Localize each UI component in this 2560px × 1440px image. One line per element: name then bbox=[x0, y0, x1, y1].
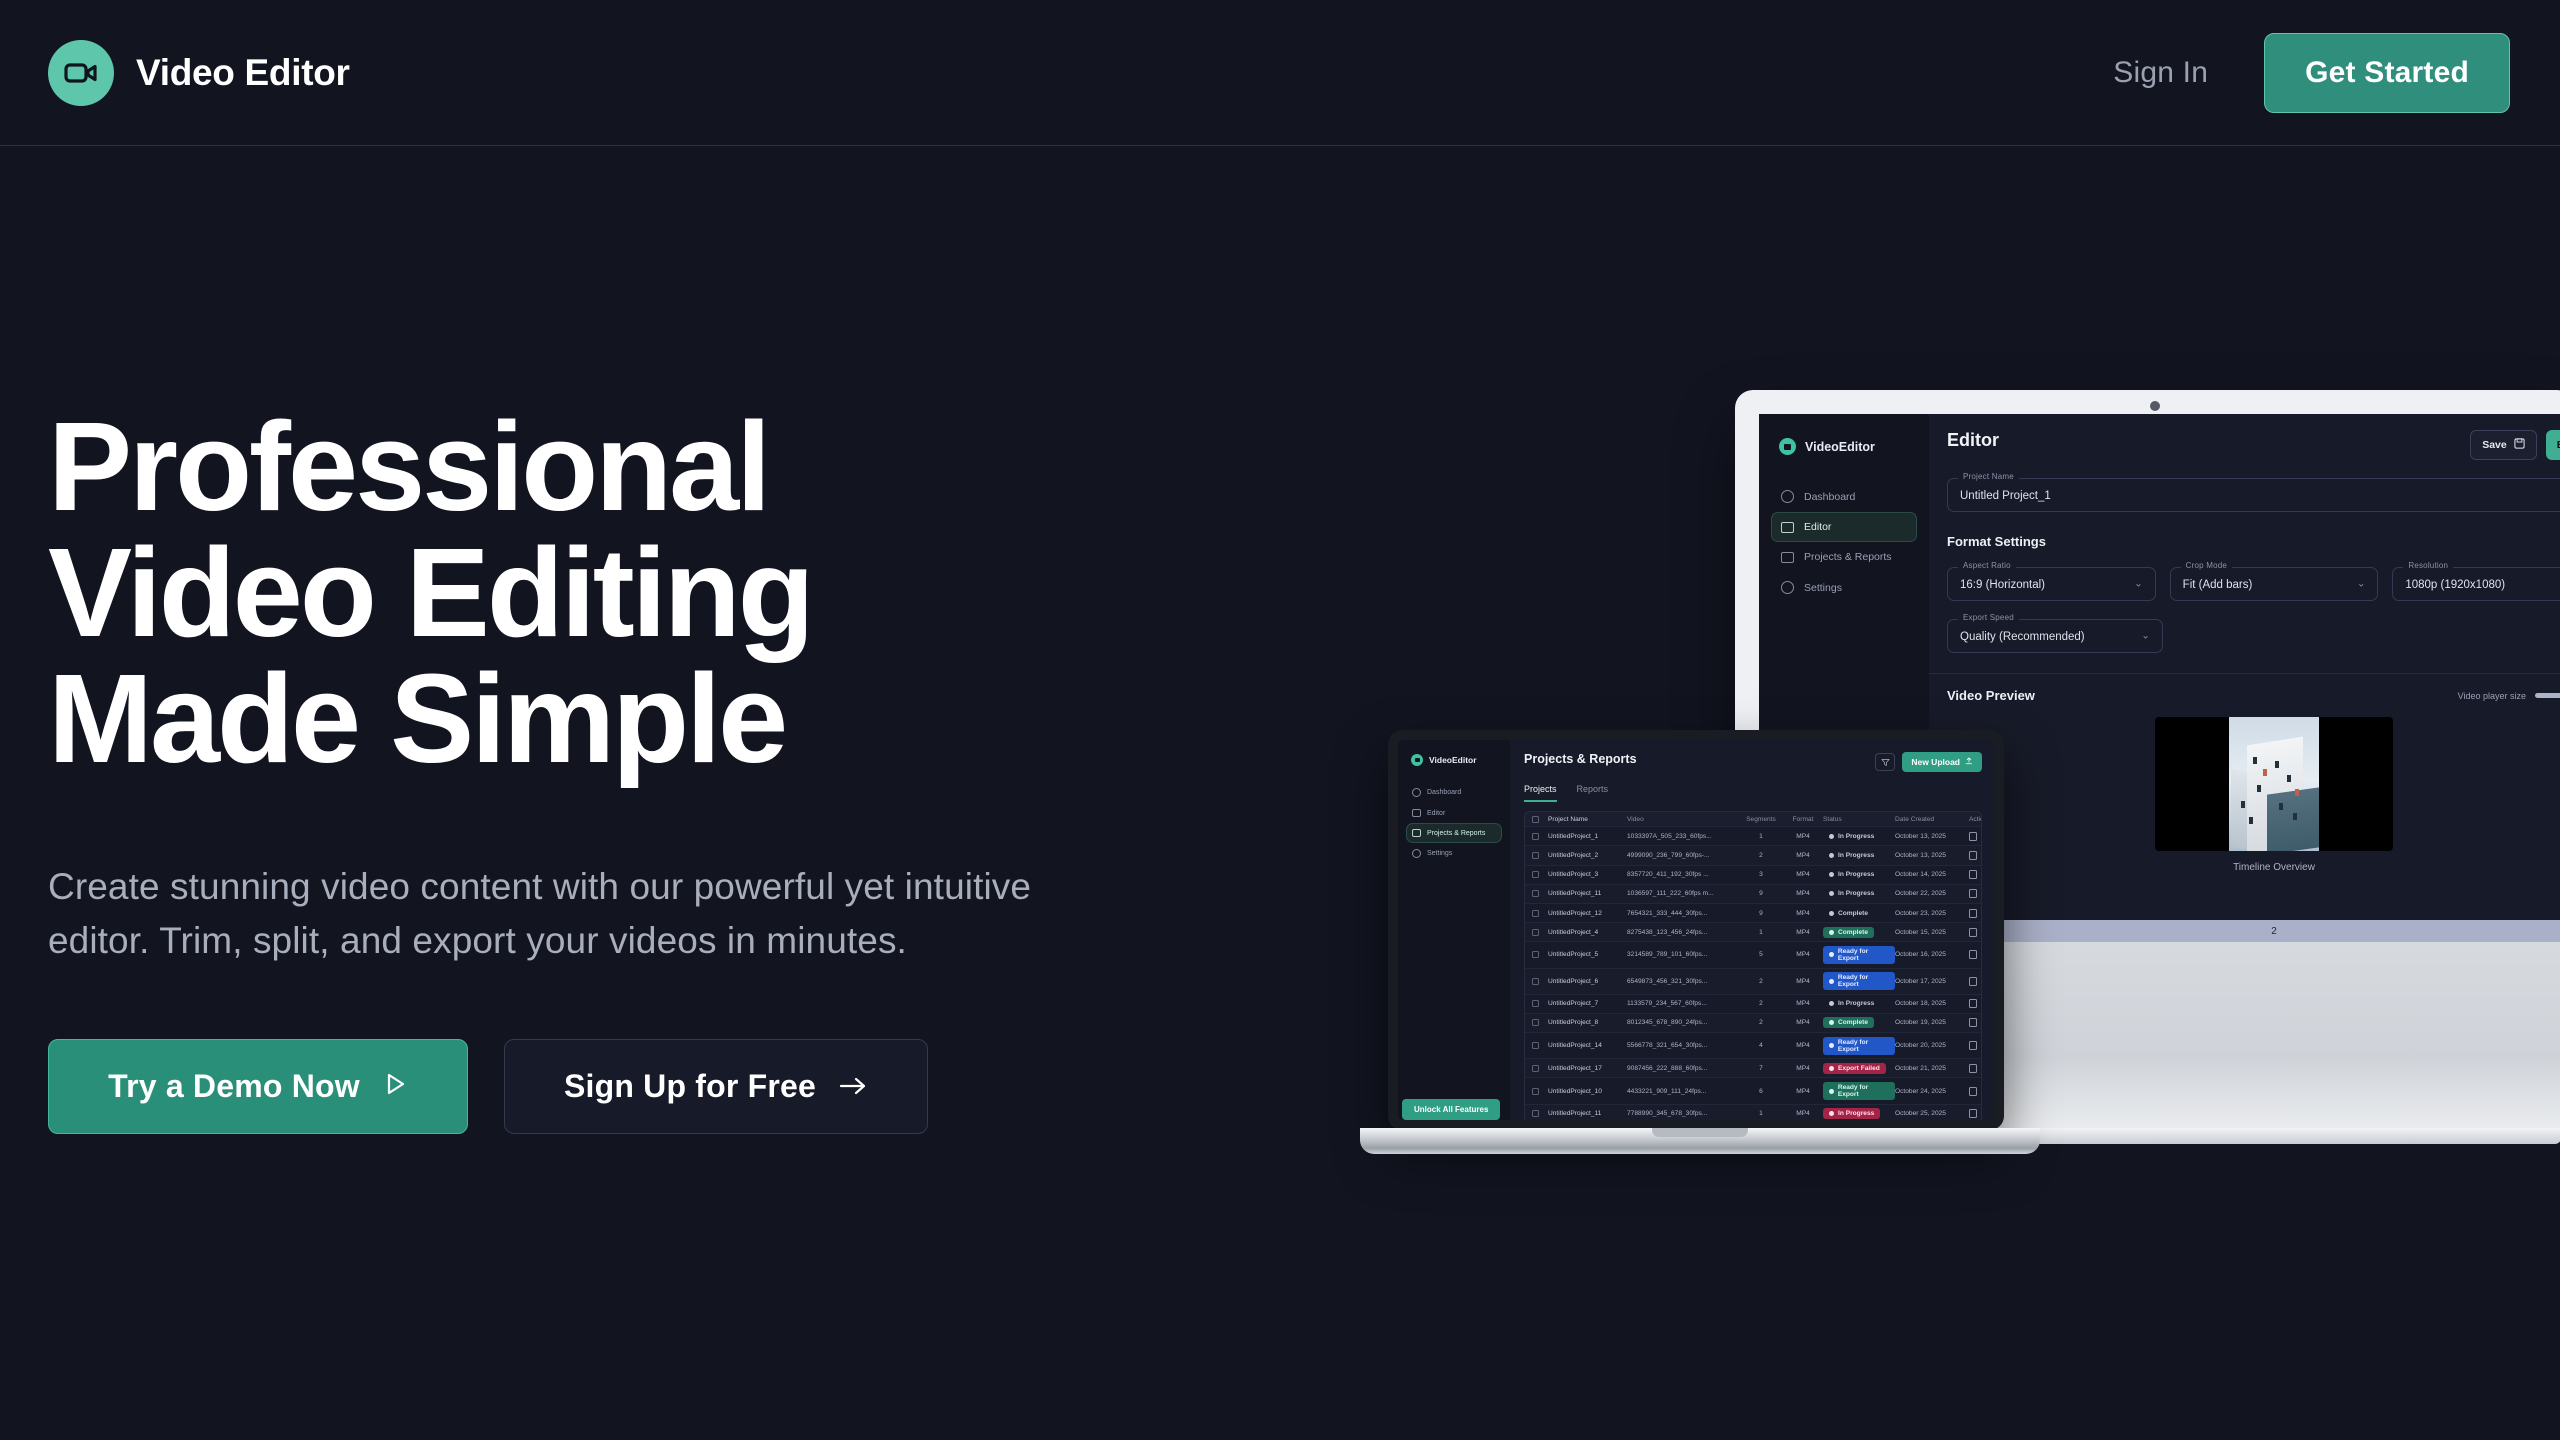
player-size-control[interactable]: Video player size bbox=[2458, 691, 2560, 701]
edit-icon[interactable] bbox=[1969, 1109, 1977, 1118]
crop-mode-value: Fit (Add bars) bbox=[2183, 579, 2253, 591]
sidebar-item-label: Projects & Reports bbox=[1427, 830, 1485, 837]
edit-icon[interactable] bbox=[1969, 950, 1977, 959]
editor-page-title: Editor bbox=[1947, 430, 1999, 451]
cell-status: In Progress bbox=[1823, 1108, 1895, 1119]
cell-project-name: UntitledProject_8 bbox=[1539, 1019, 1627, 1026]
cell-date-created: October 18, 2025 bbox=[1895, 1000, 1969, 1007]
cell-project-name: UntitledProject_14 bbox=[1539, 1042, 1627, 1049]
status-badge: Ready for Export bbox=[1823, 1037, 1895, 1055]
cell-video: 4433221_909_111_24fps... bbox=[1627, 1088, 1739, 1095]
cell-format: MP4 bbox=[1783, 1019, 1823, 1026]
status-dot-icon bbox=[1829, 1066, 1834, 1071]
save-button[interactable]: Save bbox=[2470, 430, 2537, 460]
cell-segments: 5 bbox=[1739, 951, 1783, 958]
resolution-label: Resolution bbox=[2403, 561, 2453, 570]
status-badge: Complete bbox=[1823, 1017, 1874, 1028]
row-actions[interactable] bbox=[1969, 928, 1982, 937]
table-row[interactable]: UntitledProject_11033397A_505_233_60fps.… bbox=[1525, 827, 1981, 846]
try-demo-label: Try a Demo Now bbox=[108, 1068, 360, 1105]
row-checkbox[interactable] bbox=[1532, 1019, 1539, 1026]
new-upload-button[interactable]: New Upload bbox=[1902, 752, 1982, 772]
row-checkbox[interactable] bbox=[1532, 890, 1539, 897]
cell-format: MP4 bbox=[1783, 1088, 1823, 1095]
status-dot-icon bbox=[1829, 1043, 1834, 1048]
get-started-button[interactable]: Get Started bbox=[2264, 33, 2510, 113]
cell-status: Ready for Export bbox=[1823, 972, 1895, 990]
format-settings-row-1: Aspect Ratio 16:9 (Horizontal) ⌄ Crop Mo… bbox=[1947, 549, 2560, 601]
table-row[interactable]: UntitledProject_104433221_909_111_24fps.… bbox=[1525, 1078, 1981, 1104]
save-label: Save bbox=[2482, 439, 2507, 451]
row-actions[interactable] bbox=[1969, 1087, 1982, 1096]
status-badge: Complete bbox=[1823, 908, 1874, 919]
cell-status: Ready for Export bbox=[1823, 1082, 1895, 1100]
table-row[interactable]: UntitledProject_48275438_123_456_24fps..… bbox=[1525, 923, 1981, 942]
cell-video: 3214589_789_101_60fps... bbox=[1627, 951, 1739, 958]
cell-date-created: October 22, 2025 bbox=[1895, 890, 1969, 897]
cell-date-created: October 13, 2025 bbox=[1895, 833, 1969, 840]
cell-video: 8012345_678_890_24fps... bbox=[1627, 1019, 1739, 1026]
cell-project-name: UntitledProject_7 bbox=[1539, 1000, 1627, 1007]
cell-segments: 2 bbox=[1739, 1019, 1783, 1026]
edit-icon[interactable] bbox=[1969, 889, 1977, 898]
cell-status: Complete bbox=[1823, 1017, 1895, 1028]
sidebar-item-label: Projects & Reports bbox=[1804, 551, 1892, 563]
tab-projects[interactable]: Projects bbox=[1524, 784, 1557, 802]
status-dot-icon bbox=[1829, 891, 1834, 896]
sidebar-item-editor[interactable]: Editor bbox=[1406, 803, 1502, 823]
edit-icon[interactable] bbox=[1969, 909, 1977, 918]
row-checkbox[interactable] bbox=[1532, 1042, 1539, 1049]
row-actions[interactable] bbox=[1969, 909, 1982, 918]
status-badge: Complete bbox=[1823, 927, 1874, 938]
crop-mode-label: Crop Mode bbox=[2181, 561, 2232, 570]
projects-app-brand: VideoEditor bbox=[1411, 754, 1502, 766]
status-dot-icon bbox=[1829, 872, 1834, 877]
cell-project-name: UntitledProject_17 bbox=[1539, 1065, 1627, 1072]
video-frame-image bbox=[2229, 717, 2319, 851]
webcam-icon bbox=[2150, 401, 2160, 411]
cell-date-created: October 24, 2025 bbox=[1895, 1088, 1969, 1095]
brand-name: Video Editor bbox=[136, 52, 350, 94]
cell-segments: 4 bbox=[1739, 1042, 1783, 1049]
header-actions: Sign In Get Started bbox=[2113, 33, 2510, 113]
hero-subtitle: Create stunning video content with our p… bbox=[48, 860, 1138, 967]
column-header-actions: Actions bbox=[1969, 816, 1982, 823]
row-checkbox[interactable] bbox=[1532, 1088, 1539, 1095]
projects-page-title: Projects & Reports bbox=[1524, 752, 1637, 766]
video-icon bbox=[1412, 809, 1421, 817]
cell-segments: 1 bbox=[1739, 929, 1783, 936]
cell-format: MP4 bbox=[1783, 1110, 1823, 1117]
sidebar-item-projects-reports[interactable]: Projects & Reports bbox=[1771, 542, 1917, 572]
editor-app-brand: VideoEditor bbox=[1779, 438, 1917, 455]
sidebar-item-label: Dashboard bbox=[1427, 789, 1461, 796]
video-icon bbox=[1781, 522, 1794, 533]
cell-status: Ready for Export bbox=[1823, 946, 1895, 964]
row-checkbox[interactable] bbox=[1532, 1065, 1539, 1072]
row-actions[interactable] bbox=[1969, 1109, 1982, 1118]
video-camera-icon bbox=[1411, 754, 1423, 766]
status-badge: In Progress bbox=[1823, 831, 1880, 842]
format-settings-title: Format Settings bbox=[1947, 534, 2560, 549]
table-row[interactable]: UntitledProject_145566778_321_654_30fps.… bbox=[1525, 1033, 1981, 1059]
sidebar-item-dashboard[interactable]: Dashboard bbox=[1771, 481, 1917, 512]
sidebar-item-label: Editor bbox=[1804, 521, 1831, 533]
project-name-label: Project Name bbox=[1958, 472, 2019, 481]
row-checkbox[interactable] bbox=[1532, 1000, 1539, 1007]
status-badge: Ready for Export bbox=[1823, 1082, 1895, 1100]
row-checkbox[interactable] bbox=[1532, 852, 1539, 859]
column-header-video[interactable]: Video bbox=[1627, 816, 1739, 823]
sidebar-item-settings[interactable]: Settings bbox=[1406, 843, 1502, 864]
resolution-value: 1080p (1920x1080) bbox=[2405, 579, 2505, 591]
cell-video: 8275438_123_456_24fps... bbox=[1627, 929, 1739, 936]
projects-main-panel: Projects & Reports New Upload bbox=[1510, 740, 1994, 1120]
cell-format: MP4 bbox=[1783, 1000, 1823, 1007]
floppy-disk-icon bbox=[2514, 438, 2525, 452]
cell-format: MP4 bbox=[1783, 833, 1823, 840]
column-header-format[interactable]: Format bbox=[1783, 816, 1823, 823]
table-row[interactable]: UntitledProject_24999090_236_799_60fps-.… bbox=[1525, 846, 1981, 865]
player-size-slider[interactable] bbox=[2535, 693, 2560, 698]
cell-segments: 2 bbox=[1739, 1000, 1783, 1007]
edit-icon[interactable] bbox=[1969, 1018, 1977, 1027]
edit-icon[interactable] bbox=[1969, 1087, 1977, 1096]
cell-segments: 1 bbox=[1739, 833, 1783, 840]
cell-format: MP4 bbox=[1783, 910, 1823, 917]
cell-segments: 9 bbox=[1739, 910, 1783, 917]
row-actions[interactable] bbox=[1969, 832, 1982, 841]
gear-icon bbox=[1412, 849, 1421, 858]
export-speed-select[interactable]: Export Speed Quality (Recommended) ⌄ bbox=[1947, 619, 2163, 653]
cell-segments: 6 bbox=[1739, 1088, 1783, 1095]
cell-video: 5566778_321_654_30fps... bbox=[1627, 1042, 1739, 1049]
status-dot-icon bbox=[1829, 930, 1834, 935]
aspect-ratio-select[interactable]: Aspect Ratio 16:9 (Horizontal) ⌄ bbox=[1947, 567, 2156, 601]
edit-icon[interactable] bbox=[1969, 1064, 1977, 1073]
folder-icon bbox=[1412, 829, 1421, 837]
sidebar-item-label: Settings bbox=[1804, 582, 1842, 594]
cell-date-created: October 14, 2025 bbox=[1895, 871, 1969, 878]
cell-project-name: UntitledProject_11 bbox=[1539, 1110, 1627, 1117]
chevron-down-icon: ⌄ bbox=[2357, 579, 2365, 590]
table-row[interactable]: UntitledProject_38357720_411_192_30fps .… bbox=[1525, 866, 1981, 885]
aspect-ratio-label: Aspect Ratio bbox=[1958, 561, 2016, 570]
gear-icon bbox=[1781, 581, 1794, 594]
cell-video: 7788990_345_678_30fps... bbox=[1627, 1110, 1739, 1117]
cell-project-name: UntitledProject_3 bbox=[1539, 871, 1627, 878]
row-actions[interactable] bbox=[1969, 851, 1982, 860]
cell-status: Complete bbox=[1823, 908, 1895, 919]
laptop-notch bbox=[1652, 1128, 1748, 1137]
dashboard-icon bbox=[1781, 490, 1794, 503]
cell-status: In Progress bbox=[1823, 850, 1895, 861]
cell-date-created: October 17, 2025 bbox=[1895, 978, 1969, 985]
table-body: UntitledProject_11033397A_505_233_60fps.… bbox=[1525, 827, 1981, 1120]
cell-project-name: UntitledProject_5 bbox=[1539, 951, 1627, 958]
column-header-status[interactable]: Status bbox=[1823, 816, 1895, 823]
video-player[interactable] bbox=[2155, 717, 2393, 851]
edit-icon[interactable] bbox=[1969, 870, 1977, 879]
unlock-all-features-button[interactable]: Unlock All Features bbox=[1402, 1099, 1500, 1120]
cell-segments: 2 bbox=[1739, 852, 1783, 859]
status-dot-icon bbox=[1829, 979, 1834, 984]
status-badge: In Progress bbox=[1823, 1108, 1880, 1119]
cell-project-name: UntitledProject_1 bbox=[1539, 833, 1627, 840]
row-checkbox[interactable] bbox=[1532, 910, 1539, 917]
cell-format: MP4 bbox=[1783, 852, 1823, 859]
export-speed-label: Export Speed bbox=[1958, 613, 2019, 622]
cell-date-created: October 16, 2025 bbox=[1895, 951, 1969, 958]
cell-project-name: UntitledProject_12 bbox=[1539, 910, 1627, 917]
cell-format: MP4 bbox=[1783, 929, 1823, 936]
cell-status: Complete bbox=[1823, 927, 1895, 938]
export-speed-value: Quality (Recommended) bbox=[1960, 631, 2085, 643]
video-camera-icon bbox=[48, 40, 114, 106]
cell-video: 9087456_222_888_60fps... bbox=[1627, 1065, 1739, 1072]
edit-icon[interactable] bbox=[1969, 1041, 1977, 1050]
row-actions[interactable] bbox=[1969, 1018, 1982, 1027]
cell-video: 8357720_411_192_30fps ... bbox=[1627, 871, 1739, 878]
row-actions[interactable] bbox=[1969, 999, 1982, 1008]
cell-status: Export Failed bbox=[1823, 1063, 1895, 1074]
cell-status: In Progress bbox=[1823, 998, 1895, 1009]
status-badge: In Progress bbox=[1823, 869, 1880, 880]
status-badge: In Progress bbox=[1823, 850, 1880, 861]
table-row[interactable]: UntitledProject_53214589_789_101_60fps..… bbox=[1525, 942, 1981, 968]
cell-segments: 7 bbox=[1739, 1065, 1783, 1072]
row-checkbox[interactable] bbox=[1532, 1110, 1539, 1117]
projects-app-brand-label: VideoEditor bbox=[1429, 755, 1477, 765]
status-dot-icon bbox=[1829, 1111, 1834, 1116]
cell-project-name: UntitledProject_10 bbox=[1539, 1088, 1627, 1095]
edit-icon[interactable] bbox=[1969, 999, 1977, 1008]
chevron-down-icon: ⌄ bbox=[2134, 579, 2142, 590]
cell-status: In Progress bbox=[1823, 831, 1895, 842]
cell-format: MP4 bbox=[1783, 951, 1823, 958]
brand-logo[interactable]: Video Editor bbox=[48, 40, 350, 106]
select-all-checkbox[interactable] bbox=[1532, 816, 1539, 823]
video-preview-header: Video Preview Video player size bbox=[1947, 688, 2560, 703]
sign-up-button[interactable]: Sign Up for Free bbox=[504, 1039, 928, 1134]
play-icon bbox=[382, 1068, 408, 1105]
cell-project-name: UntitledProject_6 bbox=[1539, 978, 1627, 985]
cell-date-created: October 25, 2025 bbox=[1895, 1110, 1969, 1117]
row-checkbox[interactable] bbox=[1532, 871, 1539, 878]
row-checkbox[interactable] bbox=[1532, 929, 1539, 936]
status-badge: Ready for Export bbox=[1823, 946, 1895, 964]
table-row[interactable]: UntitledProject_117788990_345_678_30fps.… bbox=[1525, 1105, 1981, 1120]
status-dot-icon bbox=[1829, 853, 1834, 858]
projects-header: Projects & Reports New Upload bbox=[1524, 752, 1982, 772]
column-header-segments[interactable]: Segments bbox=[1739, 816, 1783, 823]
editor-app-brand-label: VideoEditor bbox=[1805, 440, 1875, 454]
row-actions[interactable] bbox=[1969, 1064, 1982, 1073]
cell-status: In Progress bbox=[1823, 869, 1895, 880]
format-settings-row-2: Export Speed Quality (Recommended) ⌄ bbox=[1947, 601, 2560, 653]
column-header-date-created[interactable]: Date Created bbox=[1895, 816, 1969, 823]
status-badge: In Progress bbox=[1823, 888, 1880, 899]
edit-icon[interactable] bbox=[1969, 977, 1977, 986]
upload-icon bbox=[1965, 757, 1973, 767]
row-checkbox[interactable] bbox=[1532, 978, 1539, 985]
projects-sidebar: VideoEditor Dashboard Editor Projects & … bbox=[1398, 740, 1510, 1120]
cell-project-name: UntitledProject_2 bbox=[1539, 852, 1627, 859]
projects-tabs: Projects Reports bbox=[1524, 784, 1982, 802]
sidebar-item-label: Dashboard bbox=[1804, 491, 1855, 503]
arrow-right-icon bbox=[838, 1068, 868, 1105]
status-dot-icon bbox=[1829, 1020, 1834, 1025]
cell-date-created: October 21, 2025 bbox=[1895, 1065, 1969, 1072]
edit-icon[interactable] bbox=[1969, 832, 1977, 841]
row-actions[interactable] bbox=[1969, 977, 1982, 986]
table-row[interactable]: UntitledProject_111036597_111_222_60fps … bbox=[1525, 885, 1981, 904]
cell-video: 1036597_111_222_60fps m... bbox=[1627, 890, 1739, 897]
cell-segments: 2 bbox=[1739, 978, 1783, 985]
cell-date-created: October 13, 2025 bbox=[1895, 852, 1969, 859]
export-button[interactable]: Export bbox=[2546, 430, 2560, 460]
table-row[interactable]: UntitledProject_88012345_678_890_24fps..… bbox=[1525, 1014, 1981, 1033]
status-dot-icon bbox=[1829, 1001, 1834, 1006]
sign-in-link[interactable]: Sign In bbox=[2113, 56, 2208, 90]
sidebar-item-label: Editor bbox=[1427, 810, 1445, 817]
row-actions[interactable] bbox=[1969, 889, 1982, 898]
edit-icon[interactable] bbox=[1969, 928, 1977, 937]
sidebar-item-label: Settings bbox=[1427, 850, 1452, 857]
column-header-project-name[interactable]: Project Name bbox=[1539, 816, 1627, 823]
video-preview-title: Video Preview bbox=[1947, 688, 2035, 703]
try-demo-button[interactable]: Try a Demo Now bbox=[48, 1039, 468, 1134]
hero-section: Professional Video Editing Made Simple C… bbox=[0, 146, 1200, 1134]
project-name-value: Untitled Project_1 bbox=[1960, 490, 2051, 502]
table-row[interactable]: UntitledProject_179087456_222_888_60fps.… bbox=[1525, 1059, 1981, 1078]
folder-icon bbox=[1781, 552, 1794, 563]
table-row[interactable]: UntitledProject_127654321_333_444_30fps.… bbox=[1525, 904, 1981, 923]
sidebar-item-settings[interactable]: Settings bbox=[1771, 572, 1917, 603]
projects-toolbar: New Upload bbox=[1875, 752, 1982, 772]
crop-mode-select[interactable]: Crop Mode Fit (Add bars) ⌄ bbox=[2170, 567, 2379, 601]
cell-date-created: October 20, 2025 bbox=[1895, 1042, 1969, 1049]
status-badge: Ready for Export bbox=[1823, 972, 1895, 990]
cell-segments: 9 bbox=[1739, 890, 1783, 897]
editor-topbar: Editor Save Export bbox=[1947, 430, 2560, 460]
cell-format: MP4 bbox=[1783, 1065, 1823, 1072]
video-camera-icon bbox=[1779, 438, 1796, 455]
status-dot-icon bbox=[1829, 952, 1834, 957]
cell-format: MP4 bbox=[1783, 1042, 1823, 1049]
tab-reports[interactable]: Reports bbox=[1577, 784, 1609, 802]
cell-format: MP4 bbox=[1783, 871, 1823, 878]
laptop-mockup: VideoEditor Dashboard Editor Projects & … bbox=[1360, 730, 2040, 1170]
sidebar-item-editor[interactable]: Editor bbox=[1771, 512, 1917, 542]
dashboard-icon bbox=[1412, 788, 1421, 797]
projects-table: Project Name Video Segments Format Statu… bbox=[1524, 811, 1982, 1120]
new-upload-label: New Upload bbox=[1911, 757, 1960, 767]
row-actions[interactable] bbox=[1969, 870, 1982, 879]
filter-icon[interactable] bbox=[1875, 753, 1895, 771]
cell-date-created: October 23, 2025 bbox=[1895, 910, 1969, 917]
cell-video: 4999090_236_799_60fps-... bbox=[1627, 852, 1739, 859]
section-divider bbox=[1929, 673, 2560, 674]
status-dot-icon bbox=[1829, 834, 1834, 839]
cell-video: 7654321_333_444_30fps... bbox=[1627, 910, 1739, 917]
editor-topbar-buttons: Save Export bbox=[2470, 430, 2560, 460]
sidebar-item-dashboard[interactable]: Dashboard bbox=[1406, 782, 1502, 803]
hero-cta-group: Try a Demo Now Sign Up for Free bbox=[48, 1039, 1200, 1134]
row-checkbox[interactable] bbox=[1532, 833, 1539, 840]
cell-segments: 1 bbox=[1739, 1110, 1783, 1117]
aspect-ratio-value: 16:9 (Horizontal) bbox=[1960, 579, 2045, 591]
page-title: Professional Video Editing Made Simple bbox=[48, 404, 1200, 782]
cell-segments: 3 bbox=[1739, 871, 1783, 878]
cell-date-created: October 19, 2025 bbox=[1895, 1019, 1969, 1026]
cell-video: 1133579_234_567_60fps... bbox=[1627, 1000, 1739, 1007]
cell-video: 1033397A_505_233_60fps... bbox=[1627, 833, 1739, 840]
table-row[interactable]: UntitledProject_71133579_234_567_60fps..… bbox=[1525, 995, 1981, 1014]
sign-up-label: Sign Up for Free bbox=[564, 1068, 816, 1105]
cell-format: MP4 bbox=[1783, 978, 1823, 985]
laptop-lid: VideoEditor Dashboard Editor Projects & … bbox=[1388, 730, 2004, 1130]
cell-video: 6549873_456_321_30fps... bbox=[1627, 978, 1739, 985]
player-size-label: Video player size bbox=[2458, 691, 2526, 701]
project-name-field[interactable]: Project Name Untitled Project_1 bbox=[1947, 478, 2560, 512]
sidebar-item-projects-reports[interactable]: Projects & Reports bbox=[1406, 823, 1502, 843]
status-dot-icon bbox=[1829, 911, 1834, 916]
cell-date-created: October 15, 2025 bbox=[1895, 929, 1969, 936]
cell-project-name: UntitledProject_11 bbox=[1539, 890, 1627, 897]
resolution-select[interactable]: Resolution 1080p (1920x1080) ⌄ bbox=[2392, 567, 2560, 601]
status-badge: Export Failed bbox=[1823, 1063, 1886, 1074]
edit-icon[interactable] bbox=[1969, 851, 1977, 860]
site-header: Video Editor Sign In Get Started bbox=[0, 0, 2560, 146]
status-dot-icon bbox=[1829, 1089, 1834, 1094]
status-badge: In Progress bbox=[1823, 998, 1880, 1009]
cell-status: In Progress bbox=[1823, 888, 1895, 899]
row-actions[interactable] bbox=[1969, 950, 1982, 959]
cell-project-name: UntitledProject_4 bbox=[1539, 929, 1627, 936]
chevron-down-icon: ⌄ bbox=[2141, 631, 2149, 642]
cell-status: Ready for Export bbox=[1823, 1037, 1895, 1055]
table-row[interactable]: UntitledProject_66549873_456_321_30fps..… bbox=[1525, 969, 1981, 995]
row-actions[interactable] bbox=[1969, 1041, 1982, 1050]
cell-format: MP4 bbox=[1783, 890, 1823, 897]
table-header-row: Project Name Video Segments Format Statu… bbox=[1525, 812, 1981, 827]
laptop-screen: VideoEditor Dashboard Editor Projects & … bbox=[1398, 740, 1994, 1120]
row-checkbox[interactable] bbox=[1532, 951, 1539, 958]
device-mockups: VideoEditor Dashboard Editor Projects & … bbox=[1360, 390, 2560, 1210]
